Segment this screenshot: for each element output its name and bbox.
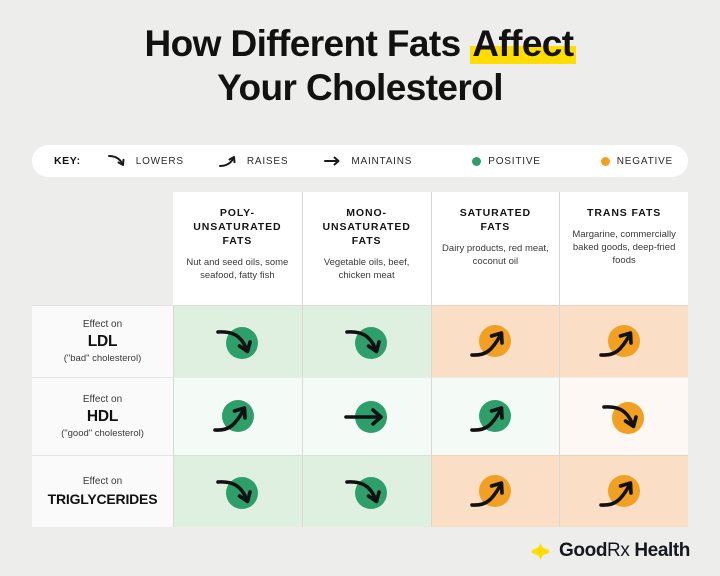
- cell-hdl-saturated: [431, 377, 560, 455]
- column-header-poly-unsaturated-fats: POLY- UNSATURATED FATS Nut and seed oils…: [173, 192, 302, 305]
- cell-trig-trans: [559, 455, 688, 527]
- col2-title-l2: FATS: [442, 220, 550, 234]
- col0-subtitle: Nut and seed oils, some seafood, fatty f…: [183, 256, 292, 282]
- legend-item-positive: POSITIVE: [472, 156, 541, 167]
- col1-subtitle: Vegetable oils, beef, chicken meat: [313, 256, 421, 282]
- page-title: How Different Fats Affect Your Cholester…: [0, 0, 720, 110]
- legend-label-lowers: LOWERS: [136, 156, 184, 167]
- dot-positive-icon: [472, 157, 481, 166]
- col0-title-l3: FATS: [183, 234, 292, 248]
- row1-main: HDL: [87, 407, 118, 427]
- legend-key-label: KEY:: [54, 155, 81, 167]
- cell-trig-poly: [173, 455, 302, 527]
- row1-post: ("good" cholesterol): [61, 427, 144, 441]
- cell-ldl-saturated: [431, 305, 560, 377]
- goodrx-cross-icon: [531, 542, 550, 561]
- cell-ldl-poly: [173, 305, 302, 377]
- arrow-curve-up-icon: [591, 317, 657, 367]
- title-text-plain: How Different Fats: [145, 23, 471, 64]
- arrow-curve-up-icon: [462, 467, 528, 517]
- column-header-mono-unsaturated-fats: MONO- UNSATURATED FATS Vegetable oils, b…: [302, 192, 431, 305]
- col2-title-l1: SATURATED: [442, 206, 550, 220]
- brand-good: Good: [559, 540, 607, 561]
- row-label-triglycerides: Effect on TRIGLYCERIDES: [32, 455, 173, 527]
- arrow-straight-right-icon: [322, 153, 344, 169]
- legend-item-maintains: MAINTAINS: [322, 153, 412, 169]
- title-highlight: Affect: [470, 22, 575, 66]
- cell-hdl-trans: [559, 377, 688, 455]
- arrow-curve-down-icon: [334, 467, 400, 517]
- brand-wordmark: GoodRx Health: [559, 540, 690, 562]
- row2-pre: Effect on: [83, 475, 122, 489]
- col2-subtitle: Dairy products, red meat, coconut oil: [442, 242, 550, 268]
- arrow-curve-down-icon: [334, 317, 400, 367]
- arrow-curve-up-icon: [205, 392, 271, 442]
- cell-ldl-mono: [302, 305, 431, 377]
- legend-label-maintains: MAINTAINS: [351, 156, 412, 167]
- cell-hdl-mono: [302, 377, 431, 455]
- footer-brand: GoodRx Health: [0, 540, 720, 562]
- col3-subtitle: Margarine, commercially baked goods, dee…: [570, 228, 678, 267]
- arrow-curve-down-icon: [205, 467, 271, 517]
- header-corner-blank: [32, 192, 173, 305]
- legend-item-lowers: LOWERS: [107, 153, 184, 169]
- cell-trig-mono: [302, 455, 431, 527]
- brand-health: Health: [629, 540, 690, 561]
- dot-negative-icon: [601, 157, 610, 166]
- arrow-curve-up-icon: [462, 317, 528, 367]
- arrow-straight-right-icon: [334, 392, 400, 442]
- legend-item-raises: RAISES: [218, 153, 288, 169]
- legend-label-positive: POSITIVE: [488, 156, 541, 167]
- table-row-triglycerides: Effect on TRIGLYCERIDES: [32, 455, 688, 527]
- table-header-row: POLY- UNSATURATED FATS Nut and seed oils…: [32, 192, 688, 305]
- row1-pre: Effect on: [83, 393, 122, 407]
- arrow-curve-down-icon: [107, 153, 129, 169]
- arrow-curve-down-icon: [205, 317, 271, 367]
- col1-title-l3: FATS: [313, 234, 421, 248]
- table-row-ldl: Effect on LDL ("bad" cholesterol): [32, 305, 688, 377]
- row0-main: LDL: [88, 332, 118, 352]
- cell-ldl-trans: [559, 305, 688, 377]
- col1-title-l2: UNSATURATED: [313, 220, 421, 234]
- row-label-ldl: Effect on LDL ("bad" cholesterol): [32, 305, 173, 377]
- row-label-hdl: Effect on HDL ("good" cholesterol): [32, 377, 173, 455]
- row0-pre: Effect on: [83, 318, 122, 332]
- col1-title-l1: MONO-: [313, 206, 421, 220]
- cell-trig-saturated: [431, 455, 560, 527]
- arrow-curve-down-icon: [591, 392, 657, 442]
- col0-title-l1: POLY-: [183, 206, 292, 220]
- legend-bar: KEY: LOWERS RAISES MAINTAINS POSITIVE NE…: [32, 145, 688, 177]
- column-header-trans-fats: TRANS FATS Margarine, commercially baked…: [559, 192, 688, 305]
- comparison-table: POLY- UNSATURATED FATS Nut and seed oils…: [32, 192, 688, 522]
- title-highlight-text: Affect: [472, 23, 573, 64]
- arrow-curve-up-icon: [218, 153, 240, 169]
- brand-rx: Rx: [607, 540, 629, 561]
- cell-hdl-poly: [173, 377, 302, 455]
- arrow-curve-up-icon: [591, 467, 657, 517]
- arrow-curve-up-icon: [462, 392, 528, 442]
- legend-label-raises: RAISES: [247, 156, 288, 167]
- column-header-saturated-fats: SATURATED FATS Dairy products, red meat,…: [431, 192, 560, 305]
- legend-item-negative: NEGATIVE: [601, 156, 673, 167]
- title-line-2: Your Cholesterol: [0, 66, 720, 110]
- col3-title-l1: TRANS FATS: [570, 206, 678, 220]
- row0-post: ("bad" cholesterol): [64, 352, 142, 366]
- table-row-hdl: Effect on HDL ("good" cholesterol): [32, 377, 688, 455]
- col0-title-l2: UNSATURATED: [183, 220, 292, 234]
- legend-label-negative: NEGATIVE: [617, 156, 673, 167]
- row2-main: TRIGLYCERIDES: [48, 489, 158, 509]
- title-line-1: How Different Fats Affect: [0, 22, 720, 66]
